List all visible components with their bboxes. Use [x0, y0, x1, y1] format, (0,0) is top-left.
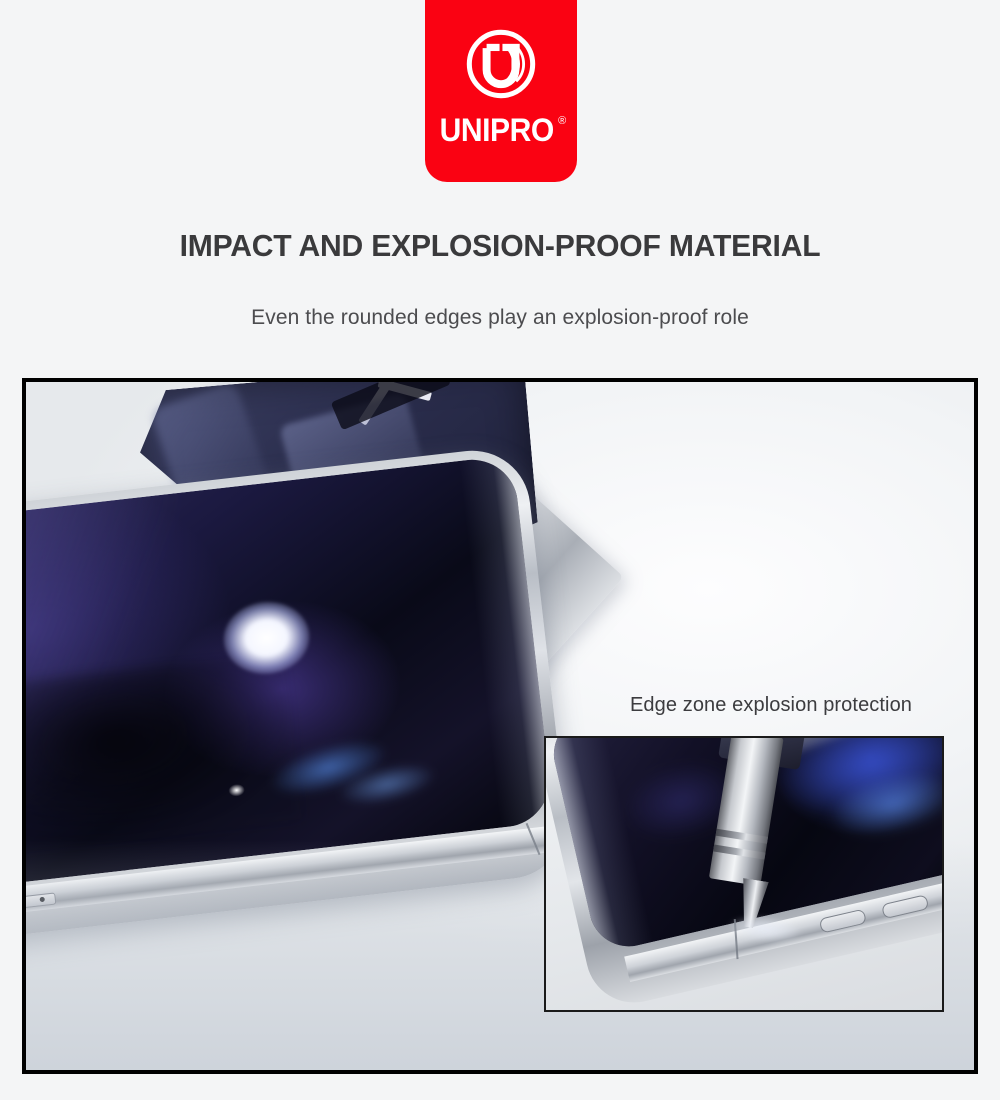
inset-closeup-photo	[544, 736, 944, 1012]
page-subtitle: Even the rounded edges play an explosion…	[0, 306, 1000, 330]
inset-caption: Edge zone explosion protection	[596, 694, 946, 717]
brand-wordmark-text: UNIPRO	[439, 114, 553, 146]
unipro-u-circle-logo-icon	[465, 28, 537, 100]
registered-trademark-icon: ®	[558, 116, 566, 127]
screen-dark-reflection	[22, 652, 305, 855]
page-title: IMPACT AND EXPLOSION-PROOF MATERIAL	[15, 228, 985, 264]
brand-wordmark: UNIPRO ®	[436, 114, 567, 146]
brand-logo-banner: UNIPRO ®	[425, 0, 577, 182]
phone-screen	[22, 455, 554, 890]
inset-shaft-ring	[713, 845, 765, 860]
inset-shaft-ring	[716, 829, 768, 844]
main-product-photo	[22, 378, 978, 1074]
